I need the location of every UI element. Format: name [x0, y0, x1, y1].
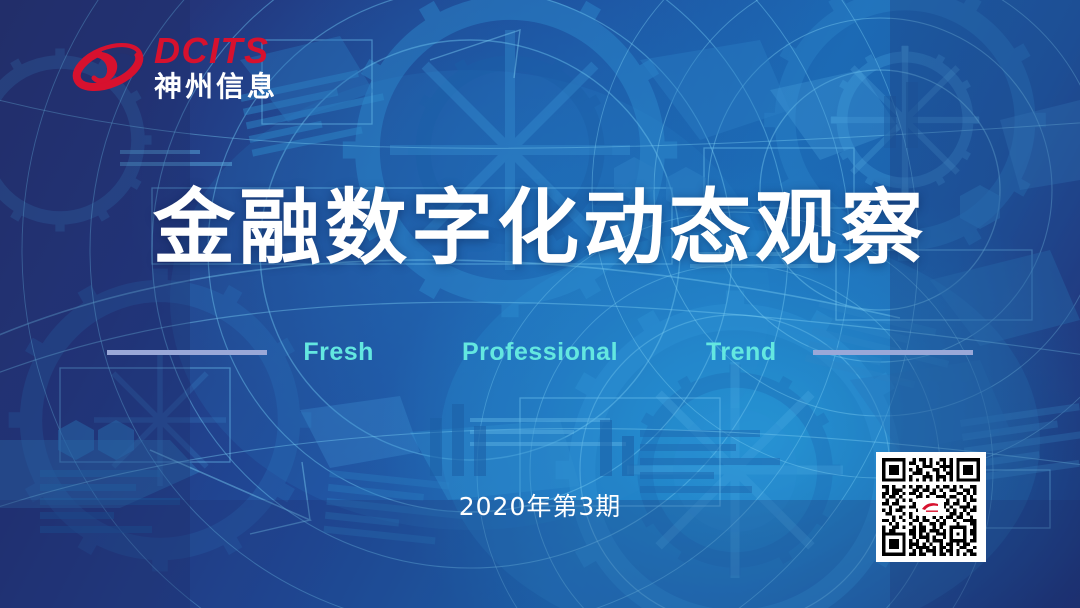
- wechat-qr-code[interactable]: [876, 452, 986, 562]
- tagline-row: Fresh Professional Trend: [0, 338, 1080, 367]
- tagline-rule-left: [107, 350, 267, 355]
- tagline-rule-right: [813, 350, 973, 355]
- brand-logo: DCITS 神州信息: [72, 33, 278, 101]
- tagline-word-fresh: Fresh: [303, 338, 374, 367]
- logo-chinese-name: 神州信息: [154, 73, 278, 101]
- page-title: 金融数字化动态观察: [0, 186, 1080, 272]
- logo-wordmark: DCITS: [154, 33, 278, 69]
- tagline-word-professional: Professional: [462, 338, 618, 367]
- tagline-word-trend: Trend: [706, 338, 777, 367]
- presentation-cover-slide: DCITS 神州信息 金融数字化动态观察 Fresh Professional …: [0, 0, 1080, 608]
- dcits-swirl-icon: [72, 36, 144, 98]
- qr-center-logo: [918, 498, 944, 516]
